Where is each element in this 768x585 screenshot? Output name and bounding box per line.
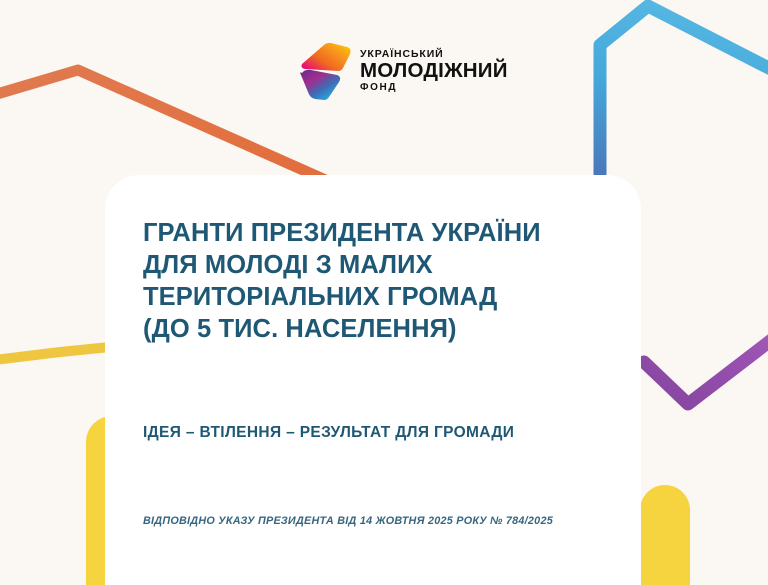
purple-v-line (644, 318, 768, 404)
logo-wordmark: УКРАЇНСЬКИЙ МОЛОДІЖНИЙ ФОНД (360, 49, 508, 93)
logo-line-main: МОЛОДІЖНИЙ (360, 61, 508, 82)
logo-line-bottom: ФОНД (360, 83, 508, 93)
legal-footnote: ВІДПОВІДНО УКАЗУ ПРЕЗИДЕНТА ВІД 14 ЖОВТН… (143, 515, 601, 527)
headline-line-1: ГРАНТИ ПРЕЗИДЕНТА УКРАЇНИ (143, 217, 601, 249)
page-title: ГРАНТИ ПРЕЗИДЕНТА УКРАЇНИ ДЛЯ МОЛОДІ З М… (143, 217, 601, 346)
headline-line-4: (ДО 5 ТИС. НАСЕЛЕННЯ) (143, 313, 601, 345)
blue-peak-line (600, 6, 768, 195)
subtitle-tagline: ІДЕЯ – ВТІЛЕННЯ – РЕЗУЛЬТАТ ДЛЯ ГРОМАДИ (143, 424, 601, 442)
headline-line-2: ДЛЯ МОЛОДІ З МАЛИХ (143, 249, 601, 281)
brand-logo: УКРАЇНСЬКИЙ МОЛОДІЖНИЙ ФОНД (297, 38, 487, 104)
ukrainian-youth-foundation-logo-mark (297, 40, 353, 102)
poster-canvas: УКРАЇНСЬКИЙ МОЛОДІЖНИЙ ФОНД ГРАНТИ ПРЕЗИ… (0, 0, 768, 585)
content-card: ГРАНТИ ПРЕЗИДЕНТА УКРАЇНИ ДЛЯ МОЛОДІ З М… (105, 175, 641, 585)
yellow-band-right (640, 485, 690, 585)
headline-line-3: ТЕРИТОРІАЛЬНИХ ГРОМАД (143, 281, 601, 313)
logo-line-top: УКРАЇНСЬКИЙ (360, 49, 508, 60)
